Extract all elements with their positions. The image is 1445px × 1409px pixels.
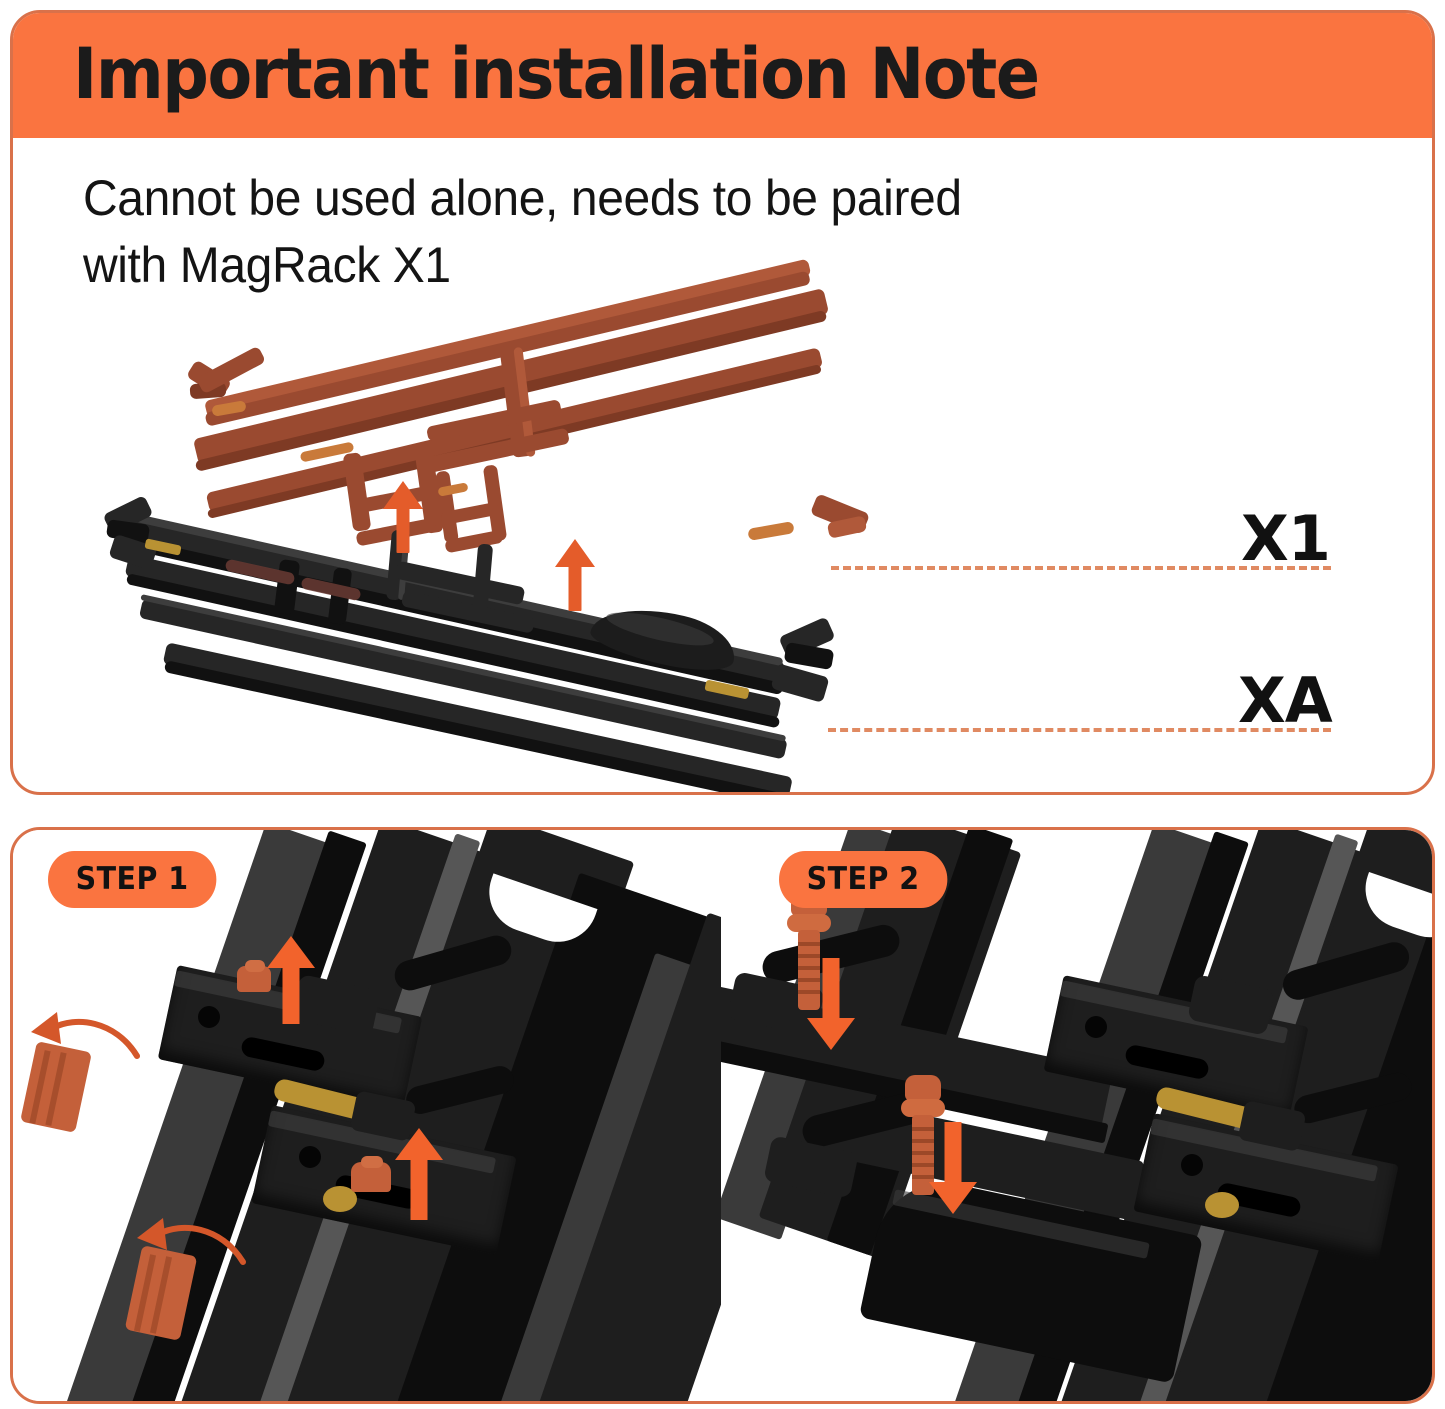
pull-up-arrow-upper	[267, 936, 315, 1024]
note-body-text: Cannot be used alone, needs to be paired…	[83, 165, 1235, 298]
note-body-line-2: with MagRack X1	[83, 232, 1235, 299]
curved-remove-arrow-upper	[27, 1008, 147, 1068]
push-down-arrow-lower	[929, 1122, 977, 1214]
part-xa-rack	[105, 478, 845, 743]
product-illustration	[13, 313, 1432, 793]
page-title: Important installation Note	[73, 33, 1039, 115]
step-1-badge: STEP 1	[48, 851, 216, 908]
step-1-photo	[13, 830, 721, 1401]
installation-steps-panel	[10, 827, 1435, 1404]
note-header-bar: Important installation Note	[10, 10, 1435, 138]
step-2-photo	[721, 830, 1432, 1401]
installation-note-panel: Important installation Note Cannot be us…	[10, 10, 1435, 795]
part-label-xa: XA	[1238, 664, 1332, 737]
step-2-badge: STEP 2	[779, 851, 947, 908]
curved-remove-arrow-lower	[133, 1214, 253, 1274]
pull-up-arrow-lower	[395, 1128, 443, 1220]
assembly-arrow-right	[555, 539, 595, 611]
push-down-arrow-upper	[807, 958, 855, 1050]
assembly-arrow-left	[383, 481, 423, 553]
part-label-x1: X1	[1241, 502, 1330, 575]
note-body-line-1: Cannot be used alone, needs to be paired	[83, 165, 1235, 232]
